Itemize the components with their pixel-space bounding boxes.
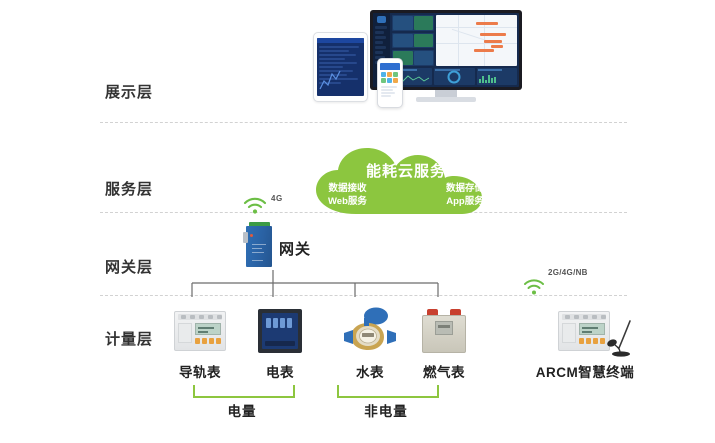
meter-electric: 电表 [240, 305, 320, 381]
monitor-stand-base [416, 97, 476, 102]
gateway-uplink-label: 4G [271, 194, 283, 203]
smartphone-device [377, 58, 403, 108]
cloud-service-column-storage: 数据存储 App服务 [446, 182, 484, 208]
display-layer-devices [305, 8, 540, 118]
layer-title-display: 展示层 [105, 81, 185, 102]
gateway-led-icon [250, 234, 253, 237]
wifi-signal-icon [243, 196, 267, 214]
gateway-port [243, 232, 248, 243]
phone-header-bar [380, 63, 400, 70]
meter-label-electric: 电表 [240, 361, 320, 381]
cloud-title: 能耗云服务 [310, 160, 502, 181]
gateway-to-meters-connector [140, 270, 480, 300]
phone-screen [380, 63, 400, 103]
wifi-signal-icon-terminal [523, 278, 545, 295]
dashboard-panel-gauge [434, 68, 474, 85]
meter-label-water: 水表 [330, 361, 410, 381]
din-rail-meter-icon [160, 305, 240, 357]
gas-meter-icon [404, 305, 484, 357]
arcm-terminal-icon [530, 303, 640, 357]
smart-terminal-label: ARCM智慧终端 [530, 361, 640, 381]
antenna-icon [606, 317, 640, 361]
meter-label-din-rail: 导轨表 [160, 361, 240, 381]
bracket-electricity [193, 385, 295, 398]
tablet-screen [317, 38, 364, 96]
gateway-node: 4G 网关 [243, 196, 363, 281]
gauge-ring-icon [448, 71, 461, 84]
dashboard-body [390, 13, 519, 87]
smart-terminal-uplink-label: 2G/4G/NB [548, 268, 588, 277]
meter-label-gas: 燃气表 [404, 361, 484, 381]
bracket-label-non-electricity: 非电量 [337, 400, 435, 420]
smart-terminal-node: ARCM智慧终端 [530, 303, 640, 381]
water-meter-icon [330, 305, 410, 357]
gateway-device [246, 222, 272, 267]
tablet-header-bar [317, 38, 364, 43]
architecture-diagram: 展示层 服务层 网关层 计量层 [0, 0, 715, 443]
bracket-non-electricity [337, 385, 439, 398]
meter-din-rail: 导轨表 [160, 305, 240, 381]
dashboard-logo-icon [377, 16, 386, 23]
dashboard-bottom-panels [392, 68, 517, 85]
panel-meter-icon [240, 305, 320, 357]
meter-water: 水表 [330, 305, 410, 381]
layer-title-service: 服务层 [105, 178, 185, 199]
tablet-device [313, 32, 368, 102]
tablet-chart-icon [319, 67, 341, 93]
bracket-label-electricity: 电量 [193, 400, 291, 420]
gateway-label: 网关 [279, 238, 311, 259]
dashboard-map [436, 15, 517, 66]
dashboard-panel-bars [477, 68, 517, 85]
divider-display-service [100, 122, 627, 123]
bar-chart-icon [479, 74, 496, 83]
phone-app-grid [380, 70, 400, 85]
gateway-body [246, 226, 272, 267]
meter-gas: 燃气表 [404, 305, 484, 381]
